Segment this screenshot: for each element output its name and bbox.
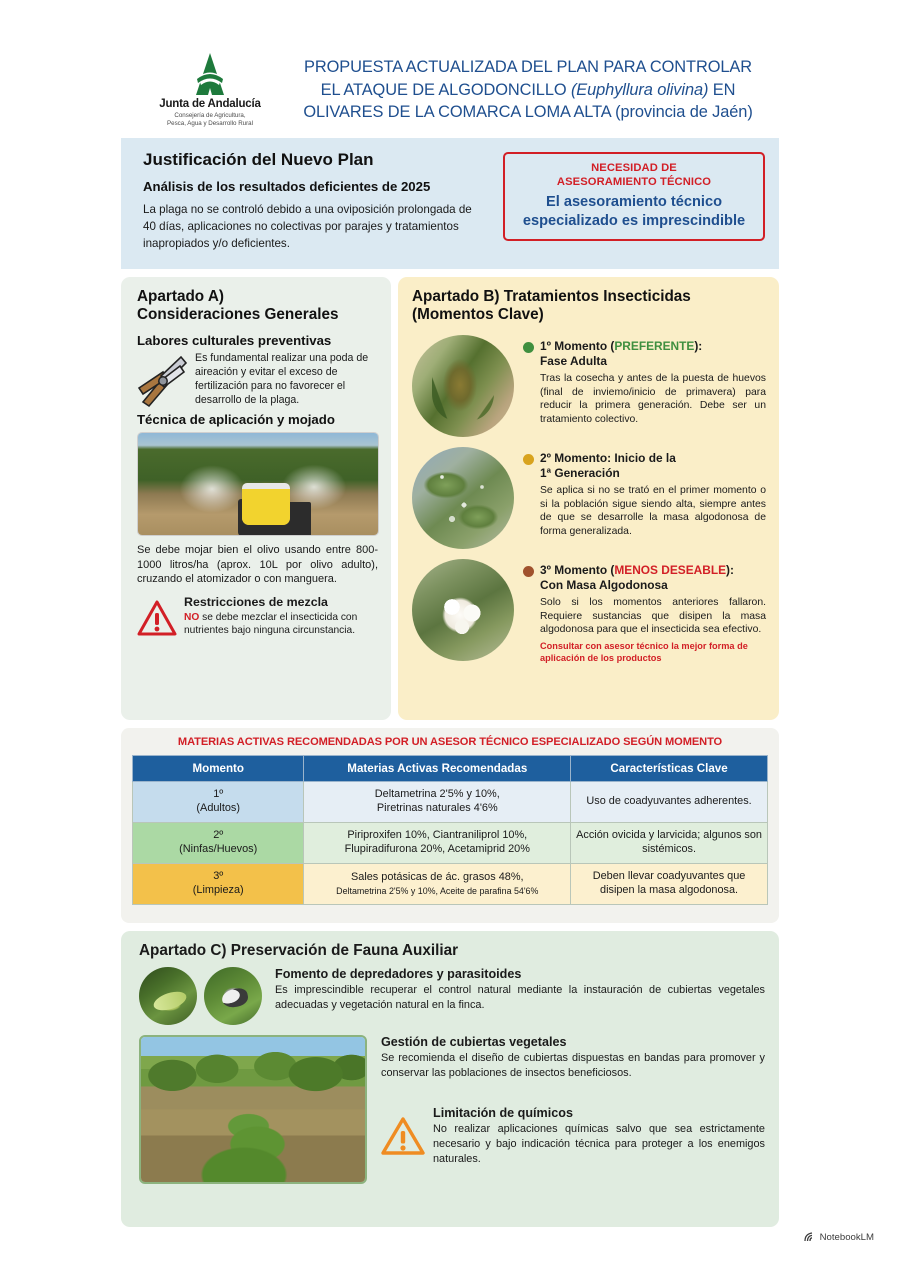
predators-text-block: Fomento de depredadores y parasitoides E… [275, 967, 765, 1012]
olive-grove-cover-photo [139, 1035, 367, 1184]
page-title-line2-a: EL ATAQUE DE ALGODONCILLO [321, 81, 571, 99]
materias-3-line2: Deltametrina 2'5% y 10%, Aceite de paraf… [309, 886, 565, 897]
cover-crops-title: Gestión de cubiertas vegetales [381, 1035, 765, 1049]
advice-kicker-line1: NECESIDAD DE [513, 161, 755, 175]
section-b-heading-line1: Apartado B) Tratamientos Insecticidas [412, 288, 766, 306]
page-title-line3: OLIVARES DE LA COMARCA LOMA ALTA (provin… [283, 101, 773, 124]
logo-name: Junta de Andalucía [151, 98, 269, 110]
moment-2-title-pre: 2º Momento: Inicio de la [540, 451, 676, 465]
predator-photos [139, 967, 265, 1025]
materias-1-line1: Deltametrina 2'5% y 10%, [309, 788, 565, 802]
justification-subheading: Análisis de los resultados deficientes d… [143, 179, 487, 194]
sprayer-photo [137, 432, 379, 536]
page-title-line2-b: EN [708, 81, 735, 99]
moment-3-bullet-icon [523, 566, 534, 577]
cover-crops-block: Gestión de cubiertas vegetales Se recomi… [139, 1035, 765, 1184]
momento-2-label: 2º [138, 829, 298, 843]
cover-crops-text-block: Gestión de cubiertas vegetales Se recomi… [381, 1035, 765, 1184]
moment-1-body: 1º Momento (PREFERENTE): Fase Adulta Tra… [523, 335, 766, 437]
predatory-fly-photo-image [204, 967, 262, 1025]
moment-1-title-post: ): [694, 339, 702, 353]
moment-item: 3º Momento (MENOS DESEABLE): Con Masa Al… [412, 559, 766, 664]
table-cell-materias-2: Piriproxifen 10%, Ciantraniliprol 10%, F… [304, 822, 571, 863]
moment-2-photo [412, 447, 514, 549]
section-a-heading: Apartado A) Consideraciones Generales [137, 288, 378, 325]
table-cell-materias-3: Sales potásicas de ác. grasos 48%, Delta… [304, 863, 571, 904]
moment-1-photo [412, 335, 514, 437]
momento-2-sublabel: (Ninfas/Huevos) [138, 843, 298, 857]
restriction-rest: se debe mezclar el insecticida con nutri… [184, 612, 357, 636]
table-cell-caracteristicas-3: Deben llevar coadyuvantes que disipen la… [571, 863, 768, 904]
pruning-advice-row: Es fundamental realizar una poda de aire… [137, 352, 378, 408]
restriction-no-word: NO [184, 612, 199, 623]
moment-3-title-pre: 3º Momento ( [540, 563, 614, 577]
page-header: Junta de Andalucía Consejería de Agricul… [121, 42, 779, 138]
junta-andalucia-logo: Junta de Andalucía Consejería de Agricul… [151, 52, 269, 129]
section-b-card: Apartado B) Tratamientos Insecticidas (M… [398, 277, 779, 720]
momento-1-label: 1º [138, 788, 298, 802]
predatory-fly-photo [204, 967, 262, 1025]
section-a-card: Apartado A) Consideraciones Generales La… [121, 277, 391, 720]
section-c-card: Apartado C) Preservación de Fauna Auxili… [121, 931, 779, 1227]
moment-3-title-line2: Con Masa Algodonosa [540, 578, 766, 593]
logo-subtitle-line1: Consejería de Agricultura, [151, 112, 269, 120]
justification-heading: Justificación del Nuevo Plan [143, 150, 487, 170]
table-cell-caracteristicas-1: Uso de coadyuvantes adherentes. [571, 782, 768, 823]
moment-1-title: 1º Momento (PREFERENTE): Fase Adulta [540, 339, 766, 369]
notebooklm-label: NotebookLM [820, 1232, 874, 1243]
momento-1-sublabel: (Adultos) [138, 802, 298, 816]
chemical-limitation-text: No realizar aplicaciones químicas salvo … [433, 1122, 765, 1166]
chemical-limitation-block: Limitación de químicos No realizar aplic… [381, 1106, 765, 1166]
moment-2-title-line2: 1ª Generación [540, 466, 766, 481]
mix-restriction-title: Restricciones de mezcla [184, 595, 378, 609]
predators-title: Fomento de depredadores y parasitoides [275, 967, 765, 981]
mix-restriction-text: NO se debe mezclar el insecticida con nu… [184, 611, 378, 637]
table-cell-caracteristicas-2: Acción ovicida y larvicida; algunos son … [571, 822, 768, 863]
moment-3-tag: MENOS DESEABLE [614, 563, 726, 577]
notebooklm-credit: NotebookLM [804, 1232, 874, 1243]
section-a-heading-line2: Consideraciones Generales [137, 306, 378, 324]
moment-3-body: 3º Momento (MENOS DESEABLE): Con Masa Al… [523, 559, 766, 664]
lacewing-photo-image [139, 967, 197, 1025]
moment-3-photo [412, 559, 514, 661]
moment-2-bullet-icon [523, 454, 534, 465]
moment-1-text: Tras la cosecha y antes de la puesta de … [540, 372, 766, 427]
logo-subtitle: Consejería de Agricultura, Pesca, Agua y… [151, 112, 269, 129]
moment-2-title: 2º Momento: Inicio de la 1ª Generación [540, 451, 766, 481]
moment-3-note: Consultar con asesor técnico la mejor fo… [540, 641, 766, 664]
justification-paragraph: La plaga no se controló debido a una ovi… [143, 202, 473, 252]
chemical-limitation-text-block: Limitación de químicos No realizar aplic… [433, 1106, 765, 1166]
materias-3-line1: Sales potásicas de ác. grasos 48%, [309, 871, 565, 885]
mix-restriction-text-block: Restricciones de mezcla NO se debe mezcl… [184, 595, 378, 637]
advice-kicker-line2: ASESORAMIENTO TÉCNICO [513, 175, 755, 189]
section-a-sub2-title: Técnica de aplicación y mojado [137, 412, 378, 427]
andalucia-arch-icon [151, 52, 269, 96]
lacewing-photo [139, 967, 197, 1025]
section-a-heading-line1: Apartado A) [137, 288, 378, 306]
section-b-heading: Apartado B) Tratamientos Insecticidas (M… [412, 288, 766, 325]
sprayer-photo-image [138, 433, 378, 535]
materias-2-line2: Flupiradifurona 20%, Acetamiprid 20% [309, 843, 565, 857]
moment-3-text: Solo si los momentos anteriores fallaron… [540, 596, 766, 637]
moment-1-bullet-icon [523, 342, 534, 353]
page-title: PROPUESTA ACTUALIZADA DEL PLAN PARA CONT… [283, 56, 773, 124]
section-a-sub2-text: Se debe mojar bien el olivo usando entre… [137, 543, 378, 588]
table-header-row: Momento Materias Activas Recomendadas Ca… [133, 756, 768, 782]
moment-item: 1º Momento (PREFERENTE): Fase Adulta Tra… [412, 335, 766, 437]
mix-restriction-row: Restricciones de mezcla NO se debe mezcl… [137, 595, 378, 637]
table-cell-momento-2: 2º (Ninfas/Huevos) [133, 822, 304, 863]
momento-3-sublabel: (Limpieza) [138, 884, 298, 898]
momento-3-label: 3º [138, 870, 298, 884]
technical-advice-callout: NECESIDAD DE ASESORAMIENTO TÉCNICO El as… [503, 152, 765, 241]
moment-1-title-pre: 1º Momento ( [540, 339, 614, 353]
page-title-line2: EL ATAQUE DE ALGODONCILLO (Euphyllura ol… [283, 79, 773, 102]
chemical-limitation-title: Limitación de químicos [433, 1106, 765, 1120]
section-a-sub1-text: Es fundamental realizar una poda de aire… [195, 352, 378, 408]
warning-triangle-red-icon [137, 599, 177, 637]
infographic-page: Junta de Andalucía Consejería de Agricul… [0, 0, 900, 1273]
active-substances-table: Momento Materias Activas Recomendadas Ca… [132, 755, 768, 905]
notebooklm-icon [804, 1232, 816, 1243]
logo-subtitle-line2: Pesca, Agua y Desarrollo Rural [151, 120, 269, 128]
warning-triangle-orange-icon [381, 1116, 425, 1156]
active-substances-card: MATERIAS ACTIVAS RECOMENDADAS POR UN ASE… [121, 728, 779, 923]
table-cell-materias-1: Deltametrina 2'5% y 10%, Piretrinas natu… [304, 782, 571, 823]
moment-1-photo-image [412, 335, 514, 437]
cover-crops-text: Se recomienda el diseño de cubiertas dis… [381, 1051, 765, 1080]
table-header-momento: Momento [133, 756, 304, 782]
section-a-sub1-title: Labores culturales preventivas [137, 333, 378, 348]
table-cell-momento-3: 3º (Limpieza) [133, 863, 304, 904]
moment-3-photo-image [412, 559, 514, 661]
table-row: 2º (Ninfas/Huevos) Piriproxifen 10%, Cia… [133, 822, 768, 863]
table-title: MATERIAS ACTIVAS RECOMENDADAS POR UN ASE… [132, 736, 768, 748]
table-header-caracteristicas: Características Clave [571, 756, 768, 782]
advice-kicker: NECESIDAD DE ASESORAMIENTO TÉCNICO [513, 161, 755, 189]
olive-grove-cover-photo-image [141, 1037, 365, 1182]
table-cell-momento-1: 1º (Adultos) [133, 782, 304, 823]
moment-3-title-post: ): [726, 563, 734, 577]
table-row: 1º (Adultos) Deltametrina 2'5% y 10%, Pi… [133, 782, 768, 823]
justification-text-block: Justificación del Nuevo Plan Análisis de… [143, 150, 487, 252]
section-c-heading: Apartado C) Preservación de Fauna Auxili… [139, 942, 765, 960]
materias-2-line1: Piriproxifen 10%, Ciantraniliprol 10%, [309, 829, 565, 843]
pruning-shears-icon [137, 352, 189, 408]
table-row: 3º (Limpieza) Sales potásicas de ác. gra… [133, 863, 768, 904]
moment-3-title: 3º Momento (MENOS DESEABLE): Con Masa Al… [540, 563, 766, 593]
advice-main-text: El asesoramiento técnico especializado e… [513, 193, 755, 230]
moment-item: 2º Momento: Inicio de la 1ª Generación S… [412, 447, 766, 549]
species-name: (Euphyllura olivina) [571, 81, 708, 99]
justification-band: Justificación del Nuevo Plan Análisis de… [121, 138, 779, 269]
moment-2-photo-image [412, 447, 514, 549]
moment-1-title-line2: Fase Adulta [540, 354, 766, 369]
predators-block: Fomento de depredadores y parasitoides E… [139, 967, 765, 1025]
section-b-heading-line2: (Momentos Clave) [412, 306, 766, 324]
moment-2-body: 2º Momento: Inicio de la 1ª Generación S… [523, 447, 766, 549]
page-title-line1: PROPUESTA ACTUALIZADA DEL PLAN PARA CONT… [283, 56, 773, 79]
table-header-materias: Materias Activas Recomendadas [304, 756, 571, 782]
moment-2-text: Se aplica si no se trató en el primer mo… [540, 484, 766, 539]
moment-1-tag: PREFERENTE [614, 339, 694, 353]
predators-text: Es imprescindible recuperar el control n… [275, 983, 765, 1012]
materias-1-line2: Piretrinas naturales 4'6% [309, 802, 565, 816]
